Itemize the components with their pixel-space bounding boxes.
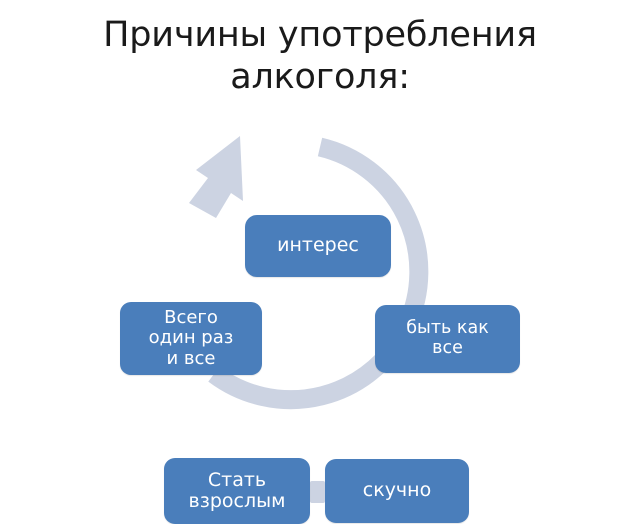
cycle-node-vsego-odin-raz[interactable]: Всего один раз и все (120, 302, 262, 375)
cycle-node-byt-kak-vse[interactable]: быть как все (375, 305, 520, 373)
cycle-node-stat-vzroslym[interactable]: Стать взрослым (164, 458, 310, 524)
cycle-node-interes[interactable]: интерес (245, 215, 391, 277)
cycle-node-skuchno[interactable]: скучно (325, 459, 469, 523)
slide-canvas: Причины употребления алкоголя: интерес б… (0, 0, 640, 480)
cycle-connector-nub (310, 481, 325, 503)
cycle-diagram: интерес быть как все скучно Стать взросл… (0, 100, 640, 450)
page-title: Причины употребления алкоголя: (0, 14, 640, 98)
